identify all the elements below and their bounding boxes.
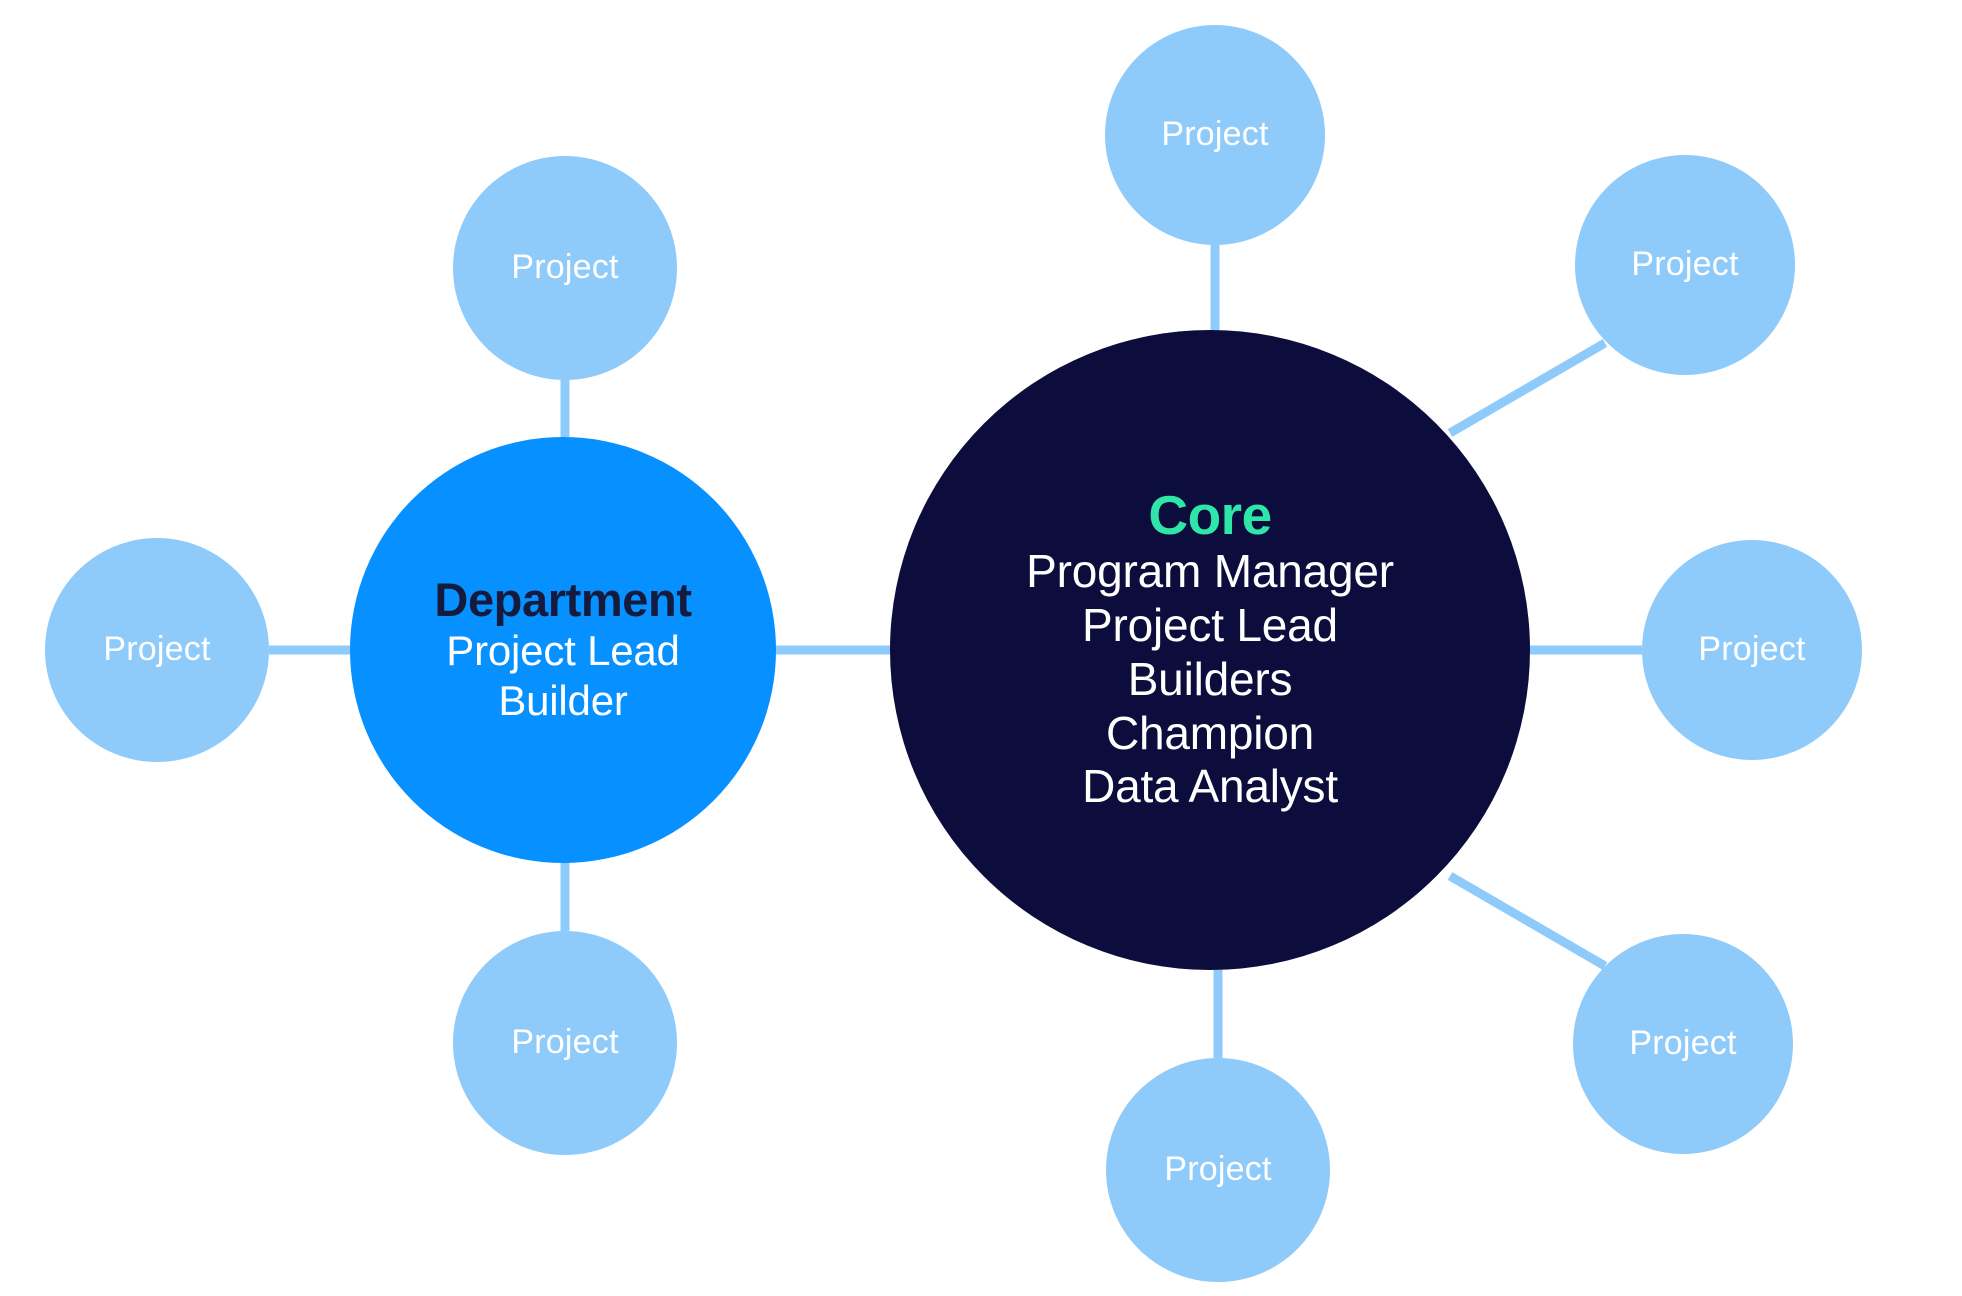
project-node-label: Project — [1161, 116, 1268, 153]
connector-line — [1450, 343, 1605, 433]
department-node-title: Department — [434, 575, 691, 625]
project-node[interactable]: Project — [1573, 934, 1793, 1154]
project-node[interactable]: Project — [1106, 1058, 1330, 1282]
core-node[interactable]: Core Program ManagerProject LeadBuilders… — [890, 330, 1530, 970]
project-node-label: Project — [103, 631, 210, 668]
project-node-label: Project — [511, 249, 618, 286]
department-node-roles: Project LeadBuilder — [446, 626, 679, 725]
role-line: Project Lead — [446, 626, 679, 676]
project-node-label: Project — [511, 1024, 618, 1061]
role-line: Champion — [1026, 707, 1394, 761]
project-node-label: Project — [1164, 1151, 1271, 1188]
project-node[interactable]: Project — [453, 931, 677, 1155]
role-line: Program Manager — [1026, 545, 1394, 599]
core-node-roles: Program ManagerProject LeadBuildersChamp… — [1026, 545, 1394, 814]
project-node[interactable]: Project — [45, 538, 269, 762]
project-node-label: Project — [1629, 1025, 1736, 1062]
role-line: Builders — [1026, 653, 1394, 707]
project-node-label: Project — [1631, 246, 1738, 283]
project-node[interactable]: Project — [1105, 25, 1325, 245]
role-line: Project Lead — [1026, 599, 1394, 653]
role-line: Builder — [446, 676, 679, 726]
org-structure-diagram: Project Project Project Project Project … — [0, 0, 1962, 1296]
project-node-label: Project — [1698, 631, 1805, 668]
connector-line — [1450, 876, 1605, 966]
core-node-title: Core — [1148, 486, 1271, 544]
project-node[interactable]: Project — [453, 156, 677, 380]
project-node[interactable]: Project — [1642, 540, 1862, 760]
role-line: Data Analyst — [1026, 760, 1394, 814]
department-node[interactable]: Department Project LeadBuilder — [350, 437, 776, 863]
project-node[interactable]: Project — [1575, 155, 1795, 375]
